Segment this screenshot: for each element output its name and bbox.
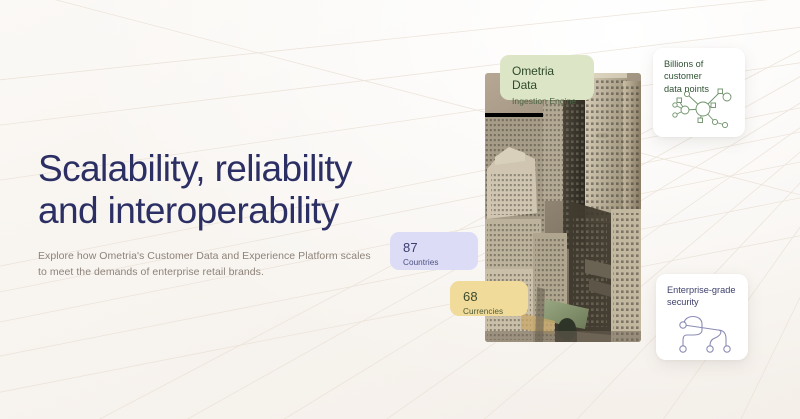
card-customer-data-points[interactable]: Billions of customer data points [653,48,745,137]
card-ingestion-subtitle: Ingestion Engine [512,96,582,106]
card-security-label: Enterprise-grade security [667,284,738,309]
circuit-path-icon [670,308,740,354]
countries-label: Countries [403,258,466,267]
currencies-value: 68 [463,289,516,304]
card-enterprise-security[interactable]: Enterprise-grade security [656,274,748,360]
hero-copy-block: Scalability, reliability and interoperab… [38,148,398,281]
stat-card-currencies[interactable]: 68 Currencies [450,281,528,316]
page-title: Scalability, reliability and interoperab… [38,148,398,232]
countries-value: 87 [403,240,466,255]
stat-card-countries[interactable]: 87 Countries [390,232,478,270]
network-graph-icon [665,82,739,132]
card-ometria-data-ingestion[interactable]: Ometria Data Ingestion Engine [500,55,594,100]
currencies-label: Currencies [463,307,516,316]
card-ingestion-title: Ometria Data [512,64,582,92]
hero-subcopy: Explore how Ometria's Customer Data and … [38,249,398,281]
